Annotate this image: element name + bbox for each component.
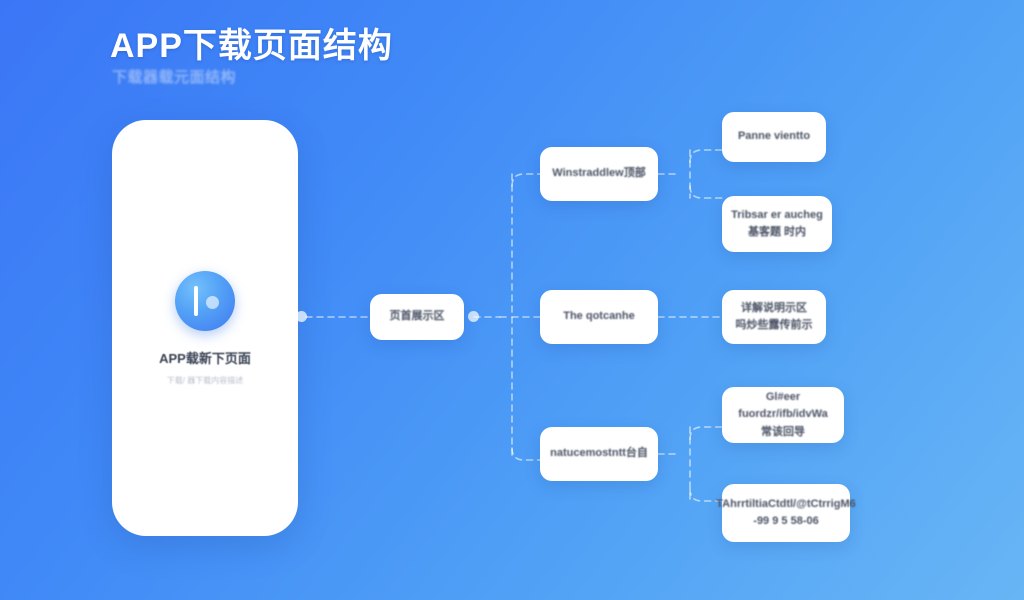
app-logo-dot-icon — [206, 296, 219, 309]
mindmap-leaf-node-2[interactable]: 详解说明示区 吗炒些露传前示 — [722, 290, 826, 344]
mindmap-branch-node-2[interactable]: natucemostntt台自 — [540, 427, 658, 481]
mindmap-root-label: 页首展示区 — [382, 308, 453, 325]
mindmap-leaf-node-1[interactable]: Tribsar er aucheg 基客题 时内 — [722, 196, 832, 252]
mindmap-branch-node-0[interactable]: Winstraddlew顶部 — [540, 147, 658, 201]
mindmap-leaf-node-0[interactable]: Panne vientto — [722, 112, 826, 162]
app-name-label: APP载新下页面 — [159, 348, 251, 367]
connector-branch-0-to-leaf-1 — [690, 186, 722, 198]
mindmap-leaf-node-4[interactable]: TAhrrtiltiaCtdtl/@tCtrrigM6 -99 9 5 58-0… — [722, 484, 850, 542]
mindmap-branch-label-0: Winstraddlew顶部 — [544, 165, 653, 182]
mindmap-branch-label-1: The qotcanhe — [555, 308, 643, 325]
mindmap-branch-node-1[interactable]: The qotcanhe — [540, 290, 658, 344]
mindmap-leaf-label-1: Tribsar er aucheg 基客题 时内 — [723, 207, 831, 241]
app-logo-icon — [175, 271, 235, 331]
mindmap-root-node[interactable]: 页首展示区 — [370, 294, 464, 340]
phone-screen: APP载新下页面 下载/ 器下载内容描述 — [112, 120, 298, 536]
connector-trunk-to-branch-0 — [512, 174, 540, 186]
mindmap-leaf-node-3[interactable]: Gl#eer fuordzr/ifb/idvWa 常该回导 — [722, 387, 844, 443]
phone-mockup: APP载新下页面 下载/ 器下载内容描述 — [112, 120, 298, 536]
connector-trunk-to-branch-2 — [512, 448, 540, 460]
mindmap-branch-label-2: natucemostntt台自 — [542, 445, 656, 462]
connector-branch-2-to-leaf-3 — [690, 427, 722, 439]
mindmap-leaf-label-4: TAhrrtiltiaCtdtl/@tCtrrigM6 -99 9 5 58-0… — [708, 496, 863, 530]
page-subtitle: 下载器载元面结构 — [112, 66, 236, 87]
app-description-label: 下载/ 器下载内容描述 — [167, 375, 243, 386]
infographic-canvas: APP下载页面结构 下载器载元面结构 APP载新下页面 下载/ 器下载内容描述 — [0, 0, 1024, 600]
phone-anchor-dot — [296, 311, 307, 322]
app-logo-bar-icon — [194, 286, 198, 316]
connector-branch-0-to-leaf-0 — [690, 150, 722, 162]
page-title: APP下载页面结构 — [110, 18, 393, 67]
root-anchor-dot — [468, 311, 479, 322]
mindmap-leaf-label-3: Gl#eer fuordzr/ifb/idvWa 常该回导 — [722, 389, 844, 440]
mindmap-leaf-label-0: Panne vientto — [730, 128, 818, 145]
mindmap-leaf-label-2: 详解说明示区 吗炒些露传前示 — [728, 300, 821, 334]
